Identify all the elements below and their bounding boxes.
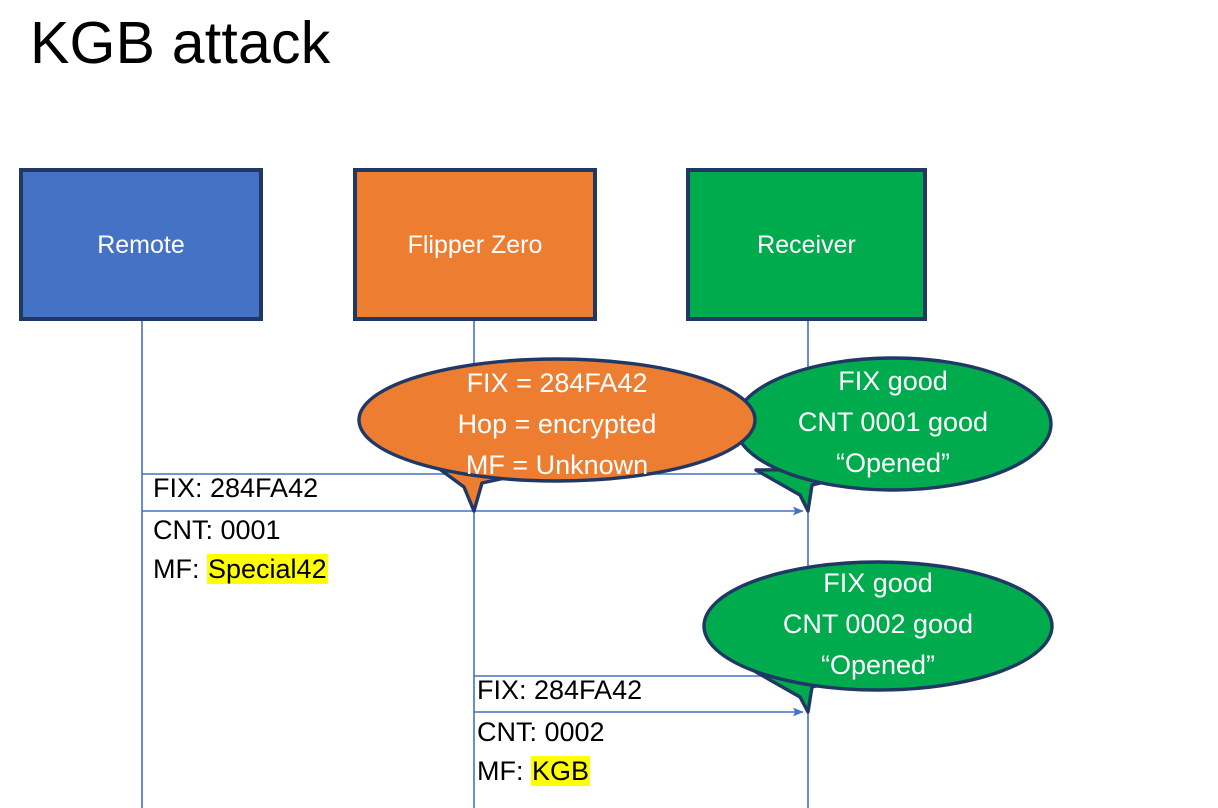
callout-receiver-1-line-1: FIX good [748,361,1038,402]
message-2-mf-prefix: MF: [477,756,531,786]
message-1-mf-value: Special42 [207,554,328,584]
callout-text-receiver-1: FIX good CNT 0001 good “Opened” [748,361,1038,484]
message-1-fix: FIX: 284FA42 [153,469,328,508]
callout-receiver-2-line-1: FIX good [733,563,1023,604]
message-1-cnt: CNT: 0001 [153,511,328,550]
slide-canvas: KGB attack [0,0,1218,808]
callout-text-flipper: FIX = 284FA42 Hop = encrypted MF = Unkno… [359,363,755,486]
message-2-fix: FIX: 284FA42 [477,671,642,710]
callout-receiver-1-line-3: “Opened” [748,443,1038,484]
message-label-remote-to-receiver: FIX: 284FA42 CNT: 0001 MF: Special42 [153,469,328,589]
callout-flipper-line-1: FIX = 284FA42 [359,363,755,404]
message-1-mf-prefix: MF: [153,554,207,584]
callout-receiver-2-line-3: “Opened” [733,645,1023,686]
callout-text-receiver-2: FIX good CNT 0002 good “Opened” [733,563,1023,686]
message-1-mf: MF: Special42 [153,550,328,589]
actor-label-remote: Remote [21,230,261,260]
callout-receiver-2-line-2: CNT 0002 good [733,604,1023,645]
message-2-cnt: CNT: 0002 [477,713,642,752]
callout-flipper-line-2: Hop = encrypted [359,404,755,445]
callout-flipper-line-3: MF = Unknown [359,445,755,486]
message-2-mf: MF: KGB [477,752,642,791]
callout-receiver-1-line-2: CNT 0001 good [748,402,1038,443]
actor-label-flipper-zero: Flipper Zero [355,230,595,260]
message-label-flipper-to-receiver: FIX: 284FA42 CNT: 0002 MF: KGB [477,671,642,791]
actor-label-receiver: Receiver [688,230,925,260]
message-2-mf-value: KGB [531,756,590,786]
